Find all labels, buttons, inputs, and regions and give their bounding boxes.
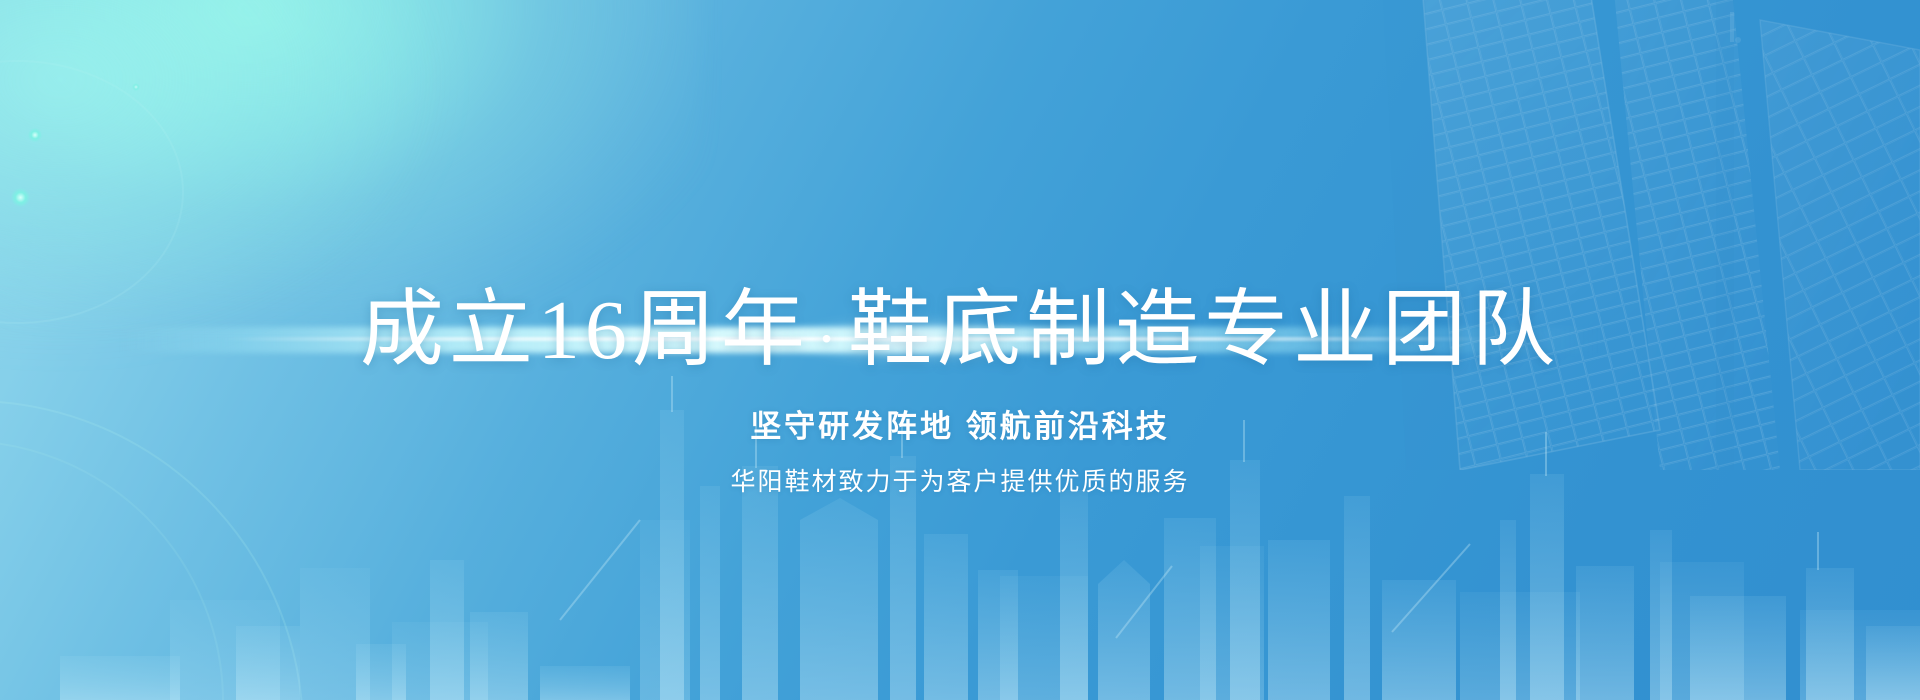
hero-copy: 成立16周年·鞋底制造专业团队 坚守研发阵地 领航前沿科技 华阳鞋材致力于为客户… [0,0,1920,700]
headline-part-2: 鞋底制造专业团队 [848,284,1560,377]
page-title: 成立16周年·鞋底制造专业团队 [360,286,1560,375]
subtitle-secondary: 华阳鞋材致力于为客户提供优质的服务 [360,462,1560,498]
hero-banner: 成立16周年·鞋底制造专业团队 坚守研发阵地 领航前沿科技 华阳鞋材致力于为客户… [0,0,1920,700]
subtitle-primary: 坚守研发阵地 领航前沿科技 [360,401,1560,446]
headline-separator: · [810,303,848,374]
headline-part-1: 成立16周年 [360,284,810,377]
